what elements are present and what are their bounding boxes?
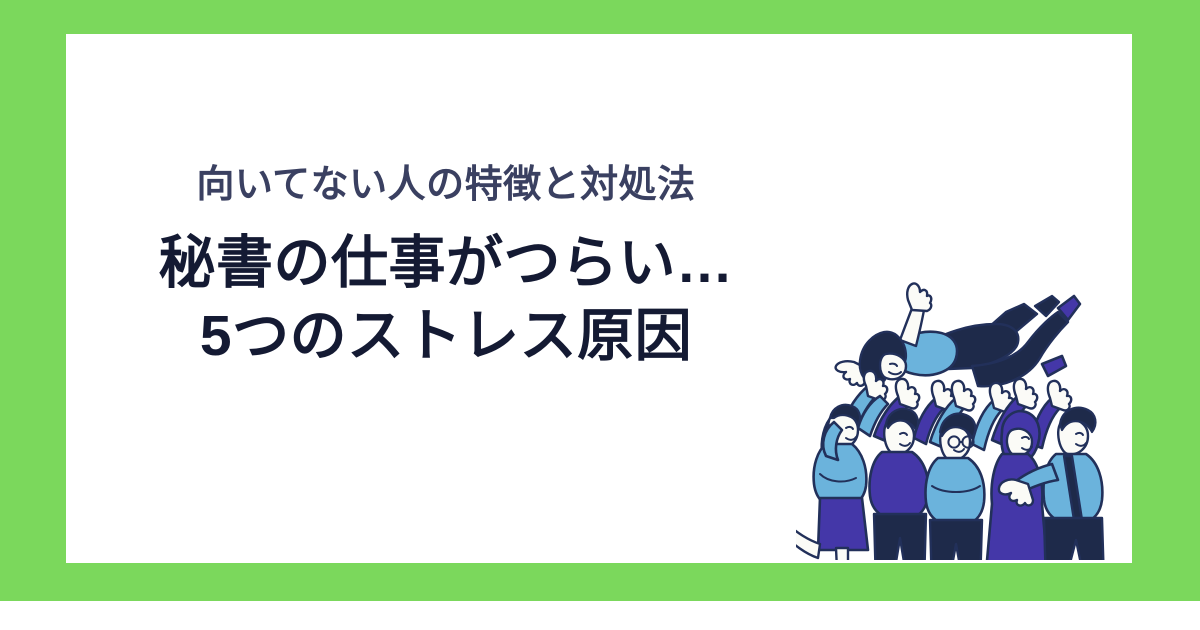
banner-title-line-1: 秘書の仕事がつらい… <box>96 227 796 300</box>
headline-text-block: 向いてない人の特徴と対処法 秘書の仕事がつらい… 5つのストレス原因 <box>96 160 796 373</box>
banner-title-line-2: 5つのストレス原因 <box>96 300 796 373</box>
team-celebration-toss-illustration: .ol { fill:none; stroke:#22305A; stroke-… <box>796 268 1126 560</box>
banner-title: 秘書の仕事がつらい… 5つのストレス原因 <box>96 227 796 373</box>
og-image-canvas: 向いてない人の特徴と対処法 秘書の仕事がつらい… 5つのストレス原因 .ol {… <box>0 0 1200 630</box>
banner-subtitle: 向いてない人の特徴と対処法 <box>96 160 796 211</box>
